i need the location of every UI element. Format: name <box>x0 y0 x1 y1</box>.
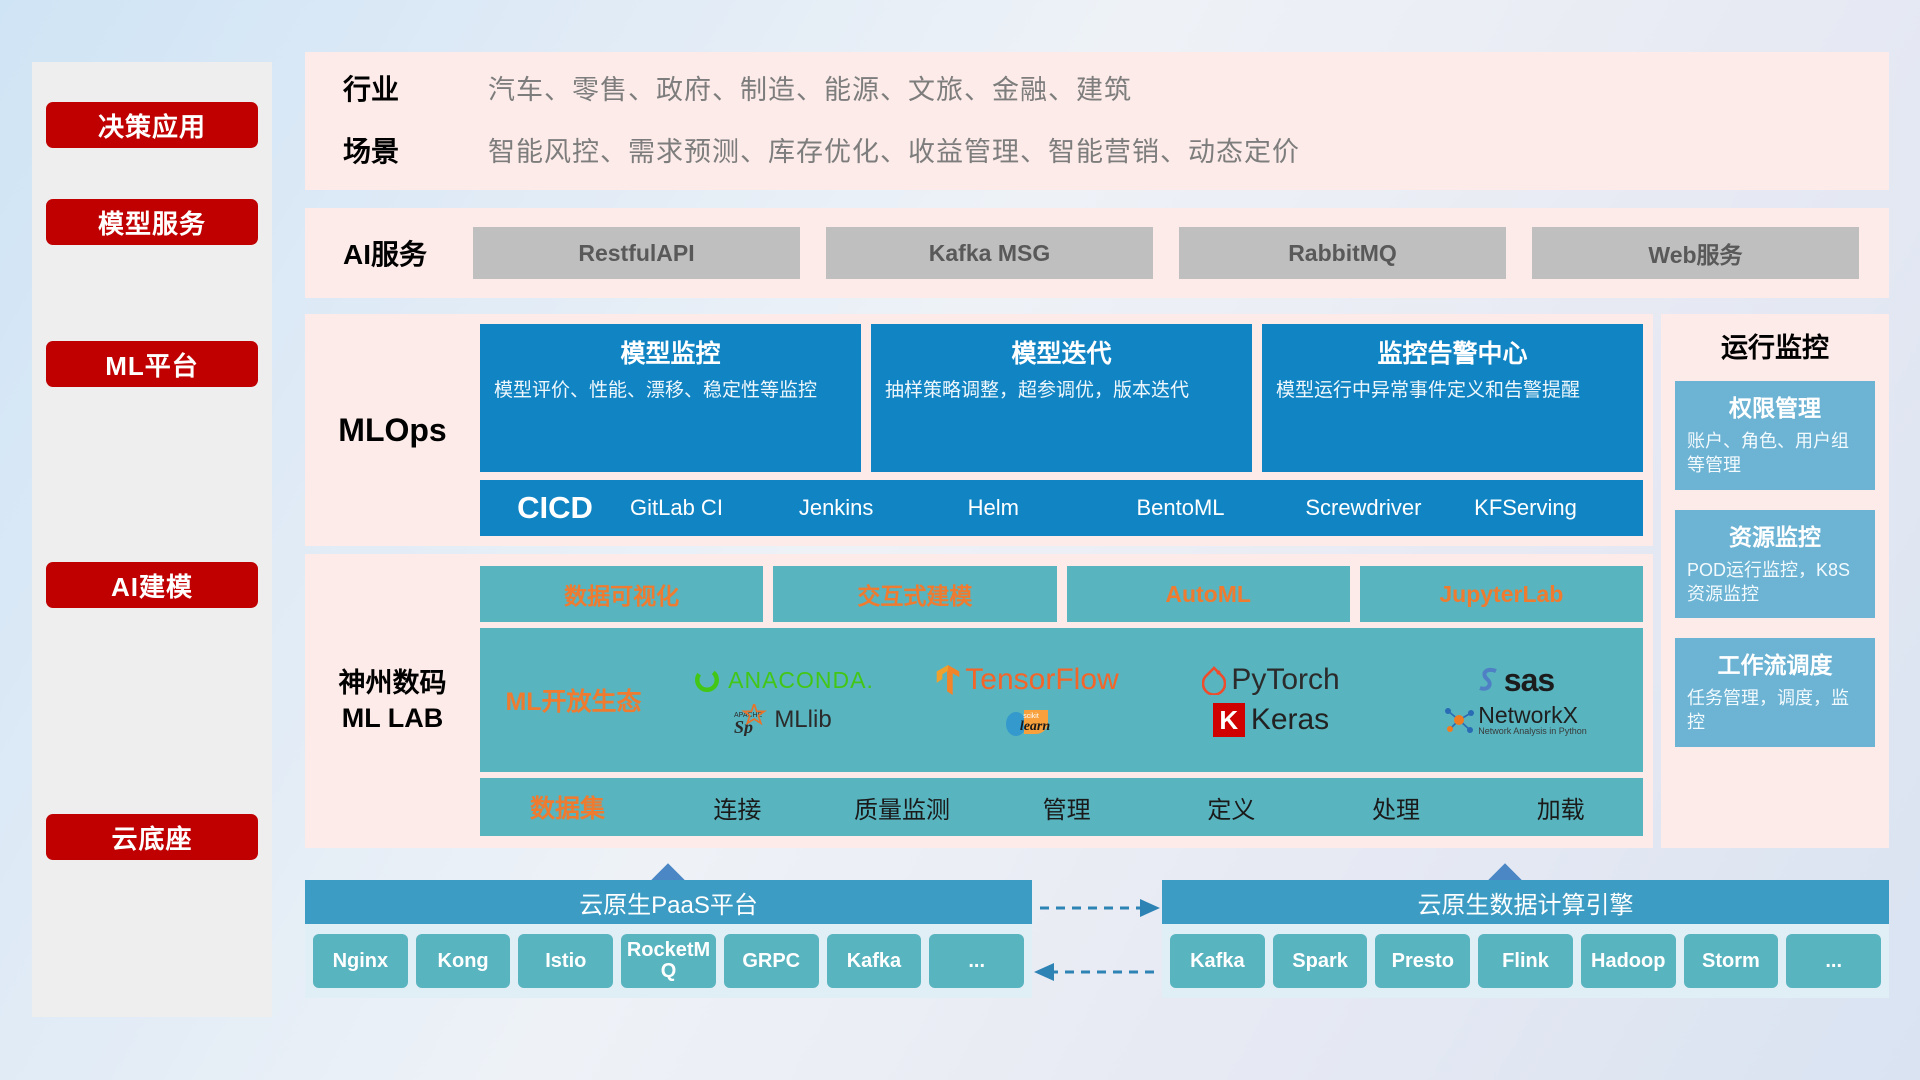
cicd-label: CICD <box>480 490 630 526</box>
ai-service-band: AI服务 RestfulAPI Kafka MSG RabbitMQ Web服务 <box>305 208 1889 298</box>
monitor-card-workflow[interactable]: 工作流调度 任务管理，调度，监控 <box>1675 638 1875 747</box>
sidebar-item-ml-platform[interactable]: ML平台 <box>46 341 258 387</box>
paas-chip-rocketmq[interactable]: RocketMQ <box>621 934 716 988</box>
paas-chips: Nginx Kong Istio RocketMQ GRPC Kafka ... <box>305 924 1032 998</box>
ml-lab-band: 神州数码 ML LAB 数据可视化 交互式建模 AutoML JupyterLa… <box>305 554 1653 848</box>
dataset-item-process[interactable]: 处理 <box>1314 790 1479 825</box>
networkx-logo: NetworkX Network Analysis in Python <box>1443 704 1587 736</box>
networkx-logo-tagline: Network Analysis in Python <box>1478 727 1587 736</box>
anaconda-logo: ANACONDA. <box>692 665 874 695</box>
tool-box-data-visualization[interactable]: 数据可视化 <box>480 566 763 622</box>
cloud-base-section: 云原生PaaS平台 Nginx Kong Istio RocketMQ GRPC… <box>305 880 1889 1030</box>
mlops-card-alert-center[interactable]: 监控告警中心 模型运行中异常事件定义和告警提醒 <box>1262 324 1643 472</box>
ml-open-ecosystem-label: ML开放生态 <box>486 682 661 718</box>
mlops-band: MLOps 模型监控 模型评价、性能、漂移、稳定性等监控 模型迭代 抽样策略调整… <box>305 314 1653 546</box>
mlops-card-model-monitoring[interactable]: 模型监控 模型评价、性能、漂移、稳定性等监控 <box>480 324 861 472</box>
ml-platform-row: MLOps 模型监控 模型评价、性能、漂移、稳定性等监控 模型迭代 抽样策略调整… <box>305 314 1889 848</box>
dataset-item-connect[interactable]: 连接 <box>655 790 820 825</box>
sas-logo: sas <box>1476 662 1554 699</box>
layer-sidebar: 决策应用 模型服务 ML平台 AI建模 云底座 <box>32 62 272 1017</box>
data-engine-title: 云原生数据计算引擎 <box>1162 880 1889 924</box>
card-desc: 模型运行中异常事件定义和告警提醒 <box>1276 378 1629 404</box>
paas-chip-more[interactable]: ... <box>929 934 1024 988</box>
ml-lab-label-line1: 神州数码 <box>305 666 480 701</box>
tensorflow-logo-text: TensorFlow <box>965 663 1118 697</box>
dataset-label: 数据集 <box>480 789 655 825</box>
ml-lab-label-line2: ML LAB <box>305 701 480 736</box>
decision-app-labels: 行业 场景 <box>343 59 488 183</box>
networkx-logo-text: NetworkX <box>1478 704 1587 727</box>
data-engine-chips: Kafka Spark Presto Flink Hadoop Storm ..… <box>1162 924 1889 998</box>
mlops-label: MLOps <box>305 412 480 449</box>
ml-lab-tool-row: 数据可视化 交互式建模 AutoML JupyterLab <box>480 566 1643 622</box>
decision-app-band: 行业 场景 汽车、零售、政府、制造、能源、文旅、金融、建筑 智能风控、需求预测、… <box>305 52 1889 190</box>
main-content: 行业 场景 汽车、零售、政府、制造、能源、文旅、金融、建筑 智能风控、需求预测、… <box>305 52 1889 848</box>
engine-chip-presto[interactable]: Presto <box>1375 934 1470 988</box>
tool-box-automl[interactable]: AutoML <box>1067 566 1350 622</box>
sidebar-item-label: 云底座 <box>111 819 192 856</box>
dataset-item-define[interactable]: 定义 <box>1149 790 1314 825</box>
dataset-item-load[interactable]: 加载 <box>1478 790 1643 825</box>
ai-service-box-kafka-msg[interactable]: Kafka MSG <box>826 227 1153 279</box>
dataset-items: 连接 质量监测 管理 定义 处理 加载 <box>655 790 1643 825</box>
card-desc: 抽样策略调整，超参调优，版本迭代 <box>885 378 1238 404</box>
runtime-monitoring-column: 运行监控 权限管理 账户、角色、用户组等管理 资源监控 POD运行监控，K8S资… <box>1661 314 1889 848</box>
paas-chip-kafka[interactable]: Kafka <box>827 934 922 988</box>
card-desc: POD运行监控，K8S资源监控 <box>1687 558 1863 607</box>
keras-logo: K Keras <box>1213 703 1329 737</box>
spark-mllib-logo: APACHE Sp MLlib <box>734 704 831 736</box>
cicd-item-screwdriver[interactable]: Screwdriver <box>1305 496 1474 519</box>
paas-chip-istio[interactable]: Istio <box>518 934 613 988</box>
sidebar-item-decision-app[interactable]: 决策应用 <box>46 102 258 148</box>
data-engine-panel: 云原生数据计算引擎 Kafka Spark Presto Flink Hadoo… <box>1162 880 1889 998</box>
sidebar-item-label: AI建模 <box>111 567 193 604</box>
ml-lab-label: 神州数码 ML LAB <box>305 666 480 736</box>
industry-values: 汽车、零售、政府、制造、能源、文旅、金融、建筑 <box>488 59 1889 121</box>
mlops-card-model-iteration[interactable]: 模型迭代 抽样策略调整，超参调优，版本迭代 <box>871 324 1252 472</box>
card-title: 模型迭代 <box>885 334 1238 370</box>
dataset-item-quality-monitor[interactable]: 质量监测 <box>820 790 985 825</box>
industry-label: 行业 <box>343 59 488 121</box>
ai-service-box-rabbitmq[interactable]: RabbitMQ <box>1179 227 1506 279</box>
card-title: 资源监控 <box>1687 518 1863 552</box>
ai-service-boxes: RestfulAPI Kafka MSG RabbitMQ Web服务 <box>473 227 1859 279</box>
ml-lab-content: 数据可视化 交互式建模 AutoML JupyterLab ML开放生态 ANA… <box>480 566 1643 836</box>
card-desc: 账户、角色、用户组等管理 <box>1687 429 1863 478</box>
keras-logo-text: Keras <box>1251 703 1329 737</box>
ai-service-box-web-service[interactable]: Web服务 <box>1532 227 1859 279</box>
engine-chip-flink[interactable]: Flink <box>1478 934 1573 988</box>
engine-chip-more[interactable]: ... <box>1786 934 1881 988</box>
paas-chip-kong[interactable]: Kong <box>416 934 511 988</box>
sidebar-item-label: 决策应用 <box>98 107 206 144</box>
sidebar-item-ai-modeling[interactable]: AI建模 <box>46 562 258 608</box>
engine-chip-kafka[interactable]: Kafka <box>1170 934 1265 988</box>
pytorch-logo: PyTorch <box>1202 663 1339 697</box>
sas-logo-text: sas <box>1504 662 1554 699</box>
cicd-item-bentoml[interactable]: BentoML <box>1136 496 1305 519</box>
bidirectional-arrows <box>1032 880 1162 1000</box>
anaconda-logo-text: ANACONDA. <box>728 667 874 694</box>
sidebar-item-label: ML平台 <box>105 346 199 383</box>
card-title: 模型监控 <box>494 334 847 370</box>
engine-chip-storm[interactable]: Storm <box>1684 934 1779 988</box>
sidebar-item-cloud-base[interactable]: 云底座 <box>46 814 258 860</box>
pytorch-logo-text: PyTorch <box>1231 663 1339 697</box>
paas-panel: 云原生PaaS平台 Nginx Kong Istio RocketMQ GRPC… <box>305 880 1032 998</box>
tensorflow-logo: TensorFlow <box>935 663 1118 697</box>
monitor-card-permission[interactable]: 权限管理 账户、角色、用户组等管理 <box>1675 381 1875 490</box>
ai-service-label: AI服务 <box>343 233 473 273</box>
ai-service-box-restfulapi[interactable]: RestfulAPI <box>473 227 800 279</box>
card-title: 权限管理 <box>1687 389 1863 423</box>
cicd-item-gitlab-ci[interactable]: GitLab CI <box>630 496 799 519</box>
card-title: 工作流调度 <box>1687 646 1863 680</box>
sidebar-item-label: 模型服务 <box>98 204 206 241</box>
engine-chip-hadoop[interactable]: Hadoop <box>1581 934 1676 988</box>
mlops-cards: 模型监控 模型评价、性能、漂移、稳定性等监控 模型迭代 抽样策略调整，超参调优，… <box>480 324 1643 472</box>
svg-text:learn: learn <box>1020 719 1050 734</box>
mlops-content: 模型监控 模型评价、性能、漂移、稳定性等监控 模型迭代 抽样策略调整，超参调优，… <box>480 324 1643 536</box>
card-title: 监控告警中心 <box>1276 334 1629 370</box>
tool-box-interactive-modeling[interactable]: 交互式建模 <box>773 566 1056 622</box>
scenario-values: 智能风控、需求预测、库存优化、收益管理、智能营销、动态定价 <box>488 121 1889 183</box>
card-desc: 任务管理，调度，监控 <box>1687 686 1863 735</box>
card-desc: 模型评价、性能、漂移、稳定性等监控 <box>494 378 847 404</box>
spark-mllib-logo-text: MLlib <box>774 706 831 734</box>
cicd-items: GitLab CI Jenkins Helm BentoML Screwdriv… <box>630 496 1643 519</box>
logo-grid: ANACONDA. TensorFlow <box>661 660 1637 740</box>
tool-box-jupyterlab[interactable]: JupyterLab <box>1360 566 1643 622</box>
sidebar-item-model-service[interactable]: 模型服务 <box>46 199 258 245</box>
monitor-card-resource[interactable]: 资源监控 POD运行监控，K8S资源监控 <box>1675 510 1875 619</box>
cicd-bar: CICD GitLab CI Jenkins Helm BentoML Scre… <box>480 480 1643 536</box>
decision-app-values: 汽车、零售、政府、制造、能源、文旅、金融、建筑 智能风控、需求预测、库存优化、收… <box>488 59 1889 183</box>
paas-chip-grpc[interactable]: GRPC <box>724 934 819 988</box>
paas-chip-nginx[interactable]: Nginx <box>313 934 408 988</box>
dataset-row: 数据集 连接 质量监测 管理 定义 处理 加载 <box>480 778 1643 836</box>
keras-logo-mark: K <box>1213 703 1245 737</box>
scenario-label: 场景 <box>343 121 488 183</box>
ml-open-ecosystem-row: ML开放生态 ANACONDA. <box>480 628 1643 772</box>
engine-chip-spark[interactable]: Spark <box>1273 934 1368 988</box>
svg-text:Sp: Sp <box>734 717 753 736</box>
cicd-item-helm[interactable]: Helm <box>968 496 1137 519</box>
runtime-monitoring-title: 运行监控 <box>1675 326 1875 365</box>
dataset-item-manage[interactable]: 管理 <box>984 790 1149 825</box>
scikit-learn-logo: scikit learn <box>1004 700 1050 740</box>
paas-title: 云原生PaaS平台 <box>305 880 1032 924</box>
cicd-item-jenkins[interactable]: Jenkins <box>799 496 968 519</box>
cicd-item-kfserving[interactable]: KFServing <box>1474 496 1643 519</box>
